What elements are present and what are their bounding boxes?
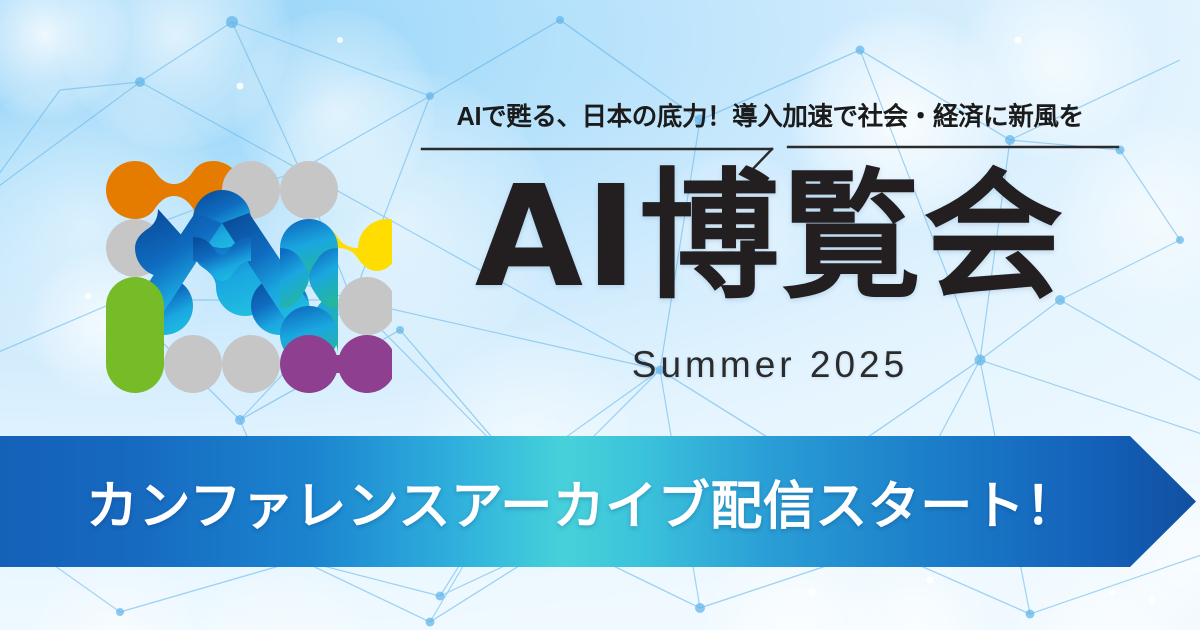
gray-dot <box>338 277 392 335</box>
gray-dot <box>164 335 222 393</box>
promo-banner-canvas: AIで甦る、日本の底力！導入加速で社会・経済に新風を AI博覧会 Summer … <box>0 0 1200 630</box>
gray-dot <box>222 335 280 393</box>
event-tagline: AIで甦る、日本の底力！導入加速で社会・経済に新風を <box>420 96 1120 133</box>
announcement-banner[interactable]: カンファレンスアーカイブ配信スタート！ <box>0 436 1200 567</box>
event-season-year: Summer 2025 <box>420 344 1120 386</box>
green-vertical-pair <box>106 277 164 393</box>
ai-hakurankai-logo-mark <box>100 155 392 395</box>
event-title: AI博覧会 <box>420 168 1120 308</box>
gray-dot <box>280 161 338 219</box>
logo-dot-grid-svg <box>100 155 392 395</box>
banner-headline: カンファレンスアーカイブ配信スタート！ <box>0 436 1200 567</box>
